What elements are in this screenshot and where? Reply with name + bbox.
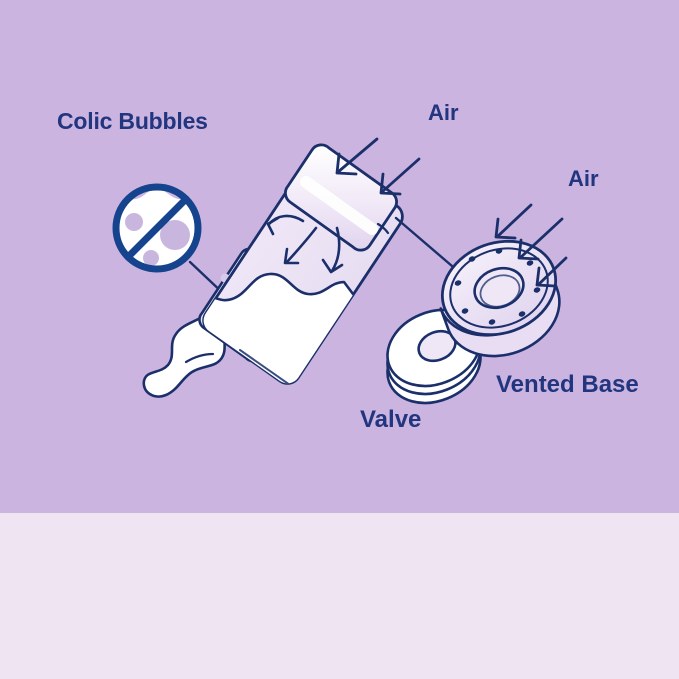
leader-line-base: [396, 218, 452, 266]
label-air-left: Air: [428, 102, 459, 124]
label-colic-bubbles: Colic Bubbles: [57, 110, 208, 133]
anti-colic-diagram: [0, 0, 679, 513]
label-vented-base: Vented Base: [496, 373, 639, 397]
bubble: [125, 213, 143, 231]
illustration-panel: Colic Bubbles Air Air Valve Vented Base: [0, 0, 679, 513]
label-air-right: Air: [568, 168, 599, 190]
baby-bottle-icon: [144, 145, 403, 420]
bubble: [143, 250, 159, 266]
product-feature-infographic: Colic Bubbles Air Air Valve Vented Base …: [0, 0, 679, 679]
caption-panel: Reduces Colic and Gas Patented Anti-Coli…: [0, 513, 679, 679]
label-valve: Valve: [360, 408, 421, 432]
